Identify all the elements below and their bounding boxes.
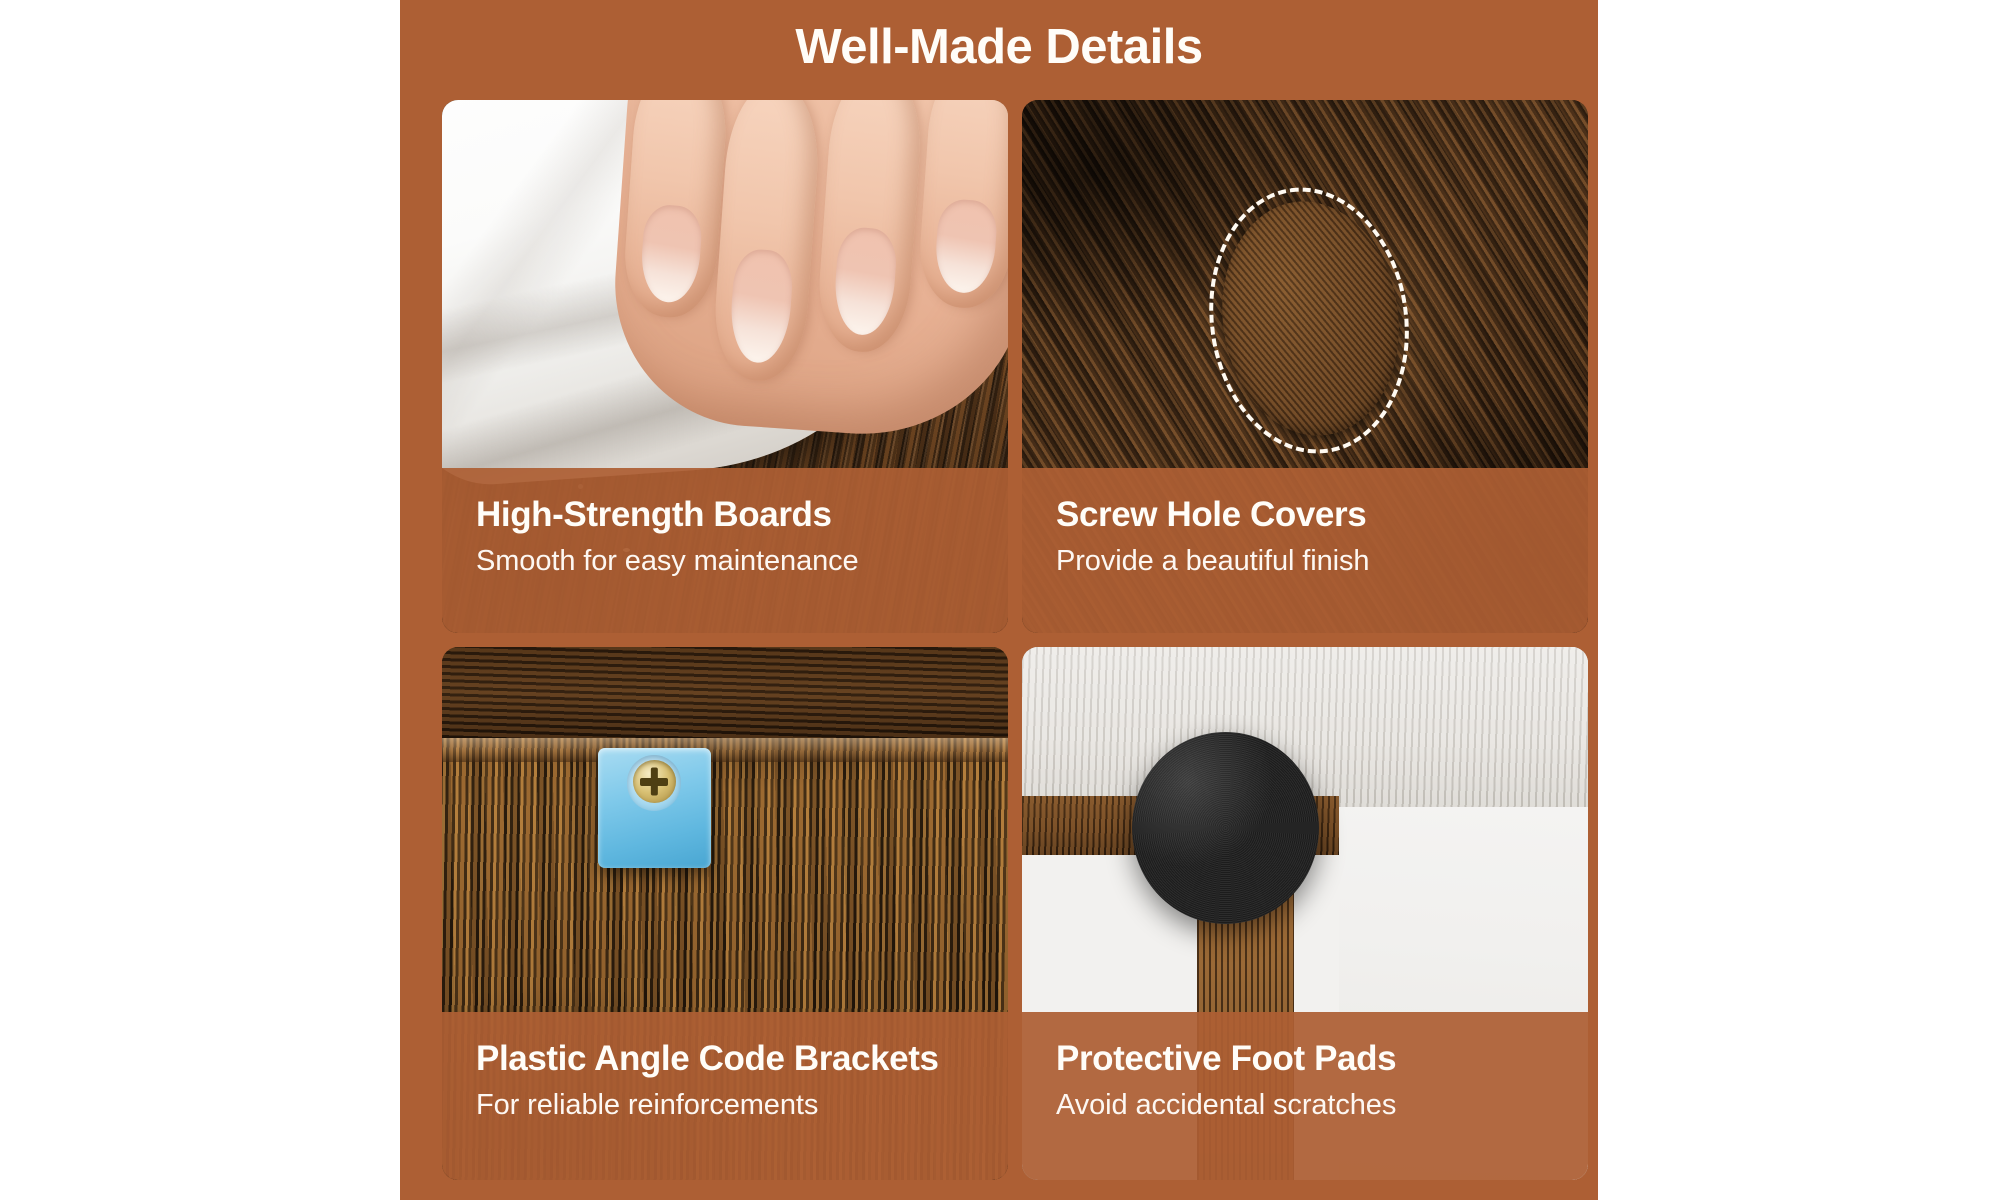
infographic-canvas: Well-Made Details <box>0 0 2001 1200</box>
feature-card-high-strength-boards[interactable]: High-Strength Boards Smooth for easy mai… <box>442 100 1008 633</box>
card-caption: Plastic Angle Code Brackets For reliable… <box>442 1012 1008 1180</box>
hand <box>606 100 1008 444</box>
card-subtitle: Smooth for easy maintenance <box>476 543 974 579</box>
feature-card-grid: High-Strength Boards Smooth for easy mai… <box>442 100 1556 1200</box>
feature-card-plastic-angle-code-brackets[interactable]: Plastic Angle Code Brackets For reliable… <box>442 647 1008 1180</box>
finger <box>916 100 1008 310</box>
card-caption: High-Strength Boards Smooth for easy mai… <box>442 468 1008 633</box>
page-title: Well-Made Details <box>400 18 1598 76</box>
finger <box>621 100 730 321</box>
protective-foot-pad <box>1132 732 1319 924</box>
card-subtitle: Provide a beautiful finish <box>1056 543 1554 579</box>
card-title: High-Strength Boards <box>476 494 974 536</box>
fingernail <box>728 248 794 365</box>
fingernail <box>933 197 998 294</box>
fingernail <box>832 226 898 337</box>
panel-edge-strip <box>442 738 1008 762</box>
card-caption: Protective Foot Pads Avoid accidental sc… <box>1022 1012 1588 1180</box>
feature-panel: Well-Made Details <box>400 0 1598 1200</box>
card-subtitle: For reliable reinforcements <box>476 1087 974 1123</box>
card-subtitle: Avoid accidental scratches <box>1056 1087 1554 1123</box>
feature-card-protective-foot-pads[interactable]: Protective Foot Pads Avoid accidental sc… <box>1022 647 1588 1180</box>
card-title: Plastic Angle Code Brackets <box>476 1038 974 1080</box>
plastic-angle-bracket <box>598 748 711 868</box>
feature-card-screw-hole-covers[interactable]: Screw Hole Covers Provide a beautiful fi… <box>1022 100 1588 633</box>
screw-slot <box>651 768 658 796</box>
finger <box>815 100 926 355</box>
finger <box>711 100 823 383</box>
panel-top-rail <box>442 647 1008 738</box>
card-title: Protective Foot Pads <box>1056 1038 1554 1080</box>
fingernail <box>639 203 704 304</box>
screw-head-icon <box>633 760 676 803</box>
card-caption: Screw Hole Covers Provide a beautiful fi… <box>1022 468 1588 633</box>
card-title: Screw Hole Covers <box>1056 494 1554 536</box>
